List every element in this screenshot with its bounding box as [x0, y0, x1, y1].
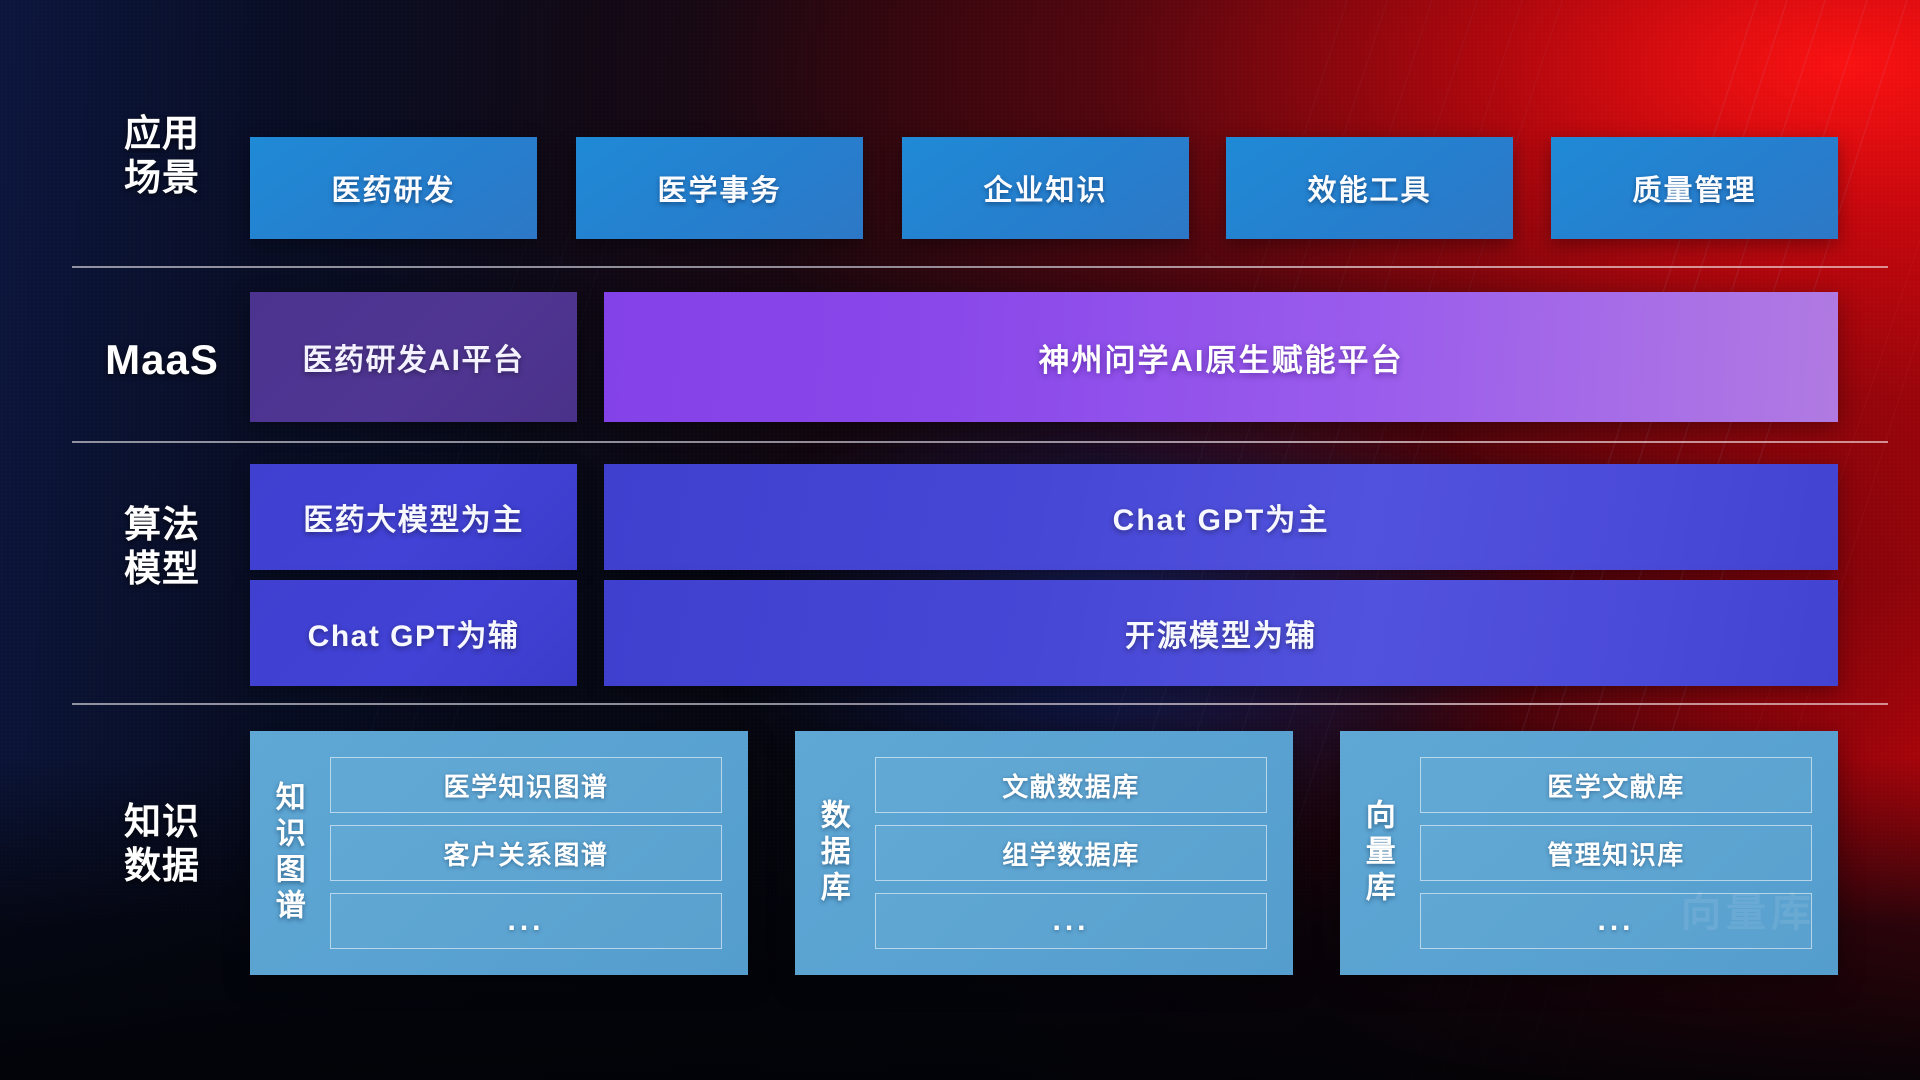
- row-label-knowledge-line1: 知识: [78, 800, 246, 844]
- row-label-algorithm: 算法 模型: [78, 503, 246, 590]
- algo-block-chatgpt-secondary[interactable]: Chat GPT为辅: [250, 580, 577, 686]
- app-tile-medicine-rd[interactable]: 医药研发: [250, 137, 537, 239]
- knowledge-item-customer-relation-graph[interactable]: 客户关系图谱: [330, 825, 722, 881]
- row-label-application-line1: 应用: [78, 112, 246, 156]
- divider-algorithm-knowledge: [72, 703, 1888, 705]
- algo-block-chatgpt-primary[interactable]: Chat GPT为主: [604, 464, 1838, 570]
- maas-block-medicine-ai-platform[interactable]: 医药研发AI平台: [250, 292, 577, 422]
- row-label-maas-text: MaaS: [78, 335, 246, 385]
- row-label-maas: MaaS: [78, 335, 246, 385]
- knowledge-card-items-vector-store: 医学文献库 管理知识库 ...: [1414, 731, 1838, 975]
- knowledge-card-vector-store[interactable]: 向量库 医学文献库 管理知识库 ...: [1340, 731, 1838, 975]
- knowledge-item-more-vector-store[interactable]: ...: [1420, 893, 1812, 949]
- knowledge-item-literature-database[interactable]: 文献数据库: [875, 757, 1267, 813]
- row-label-knowledge-line2: 数据: [78, 844, 246, 888]
- divider-application-maas: [72, 266, 1888, 268]
- knowledge-card-title-knowledge-graph: 知识图谱: [250, 731, 324, 975]
- knowledge-item-more-knowledge-graph[interactable]: ...: [330, 893, 722, 949]
- row-label-application: 应用 场景: [78, 112, 246, 199]
- row-label-algorithm-line2: 模型: [78, 547, 246, 591]
- row-label-knowledge: 知识 数据: [78, 800, 246, 887]
- algo-block-opensource-model-secondary[interactable]: 开源模型为辅: [604, 580, 1838, 686]
- row-label-application-line2: 场景: [78, 156, 246, 200]
- knowledge-card-knowledge-graph[interactable]: 知识图谱 医学知识图谱 客户关系图谱 ...: [250, 731, 748, 975]
- knowledge-card-items-database: 文献数据库 组学数据库 ...: [869, 731, 1293, 975]
- knowledge-item-more-database[interactable]: ...: [875, 893, 1267, 949]
- knowledge-item-medical-knowledge-graph[interactable]: 医学知识图谱: [330, 757, 722, 813]
- maas-block-shenzhou-wenxue-platform[interactable]: 神州问学AI原生赋能平台: [604, 292, 1838, 422]
- slide-canvas: 应用 场景 医药研发 医学事务 企业知识 效能工具 质量管理 MaaS 医药研发…: [0, 0, 1920, 1080]
- algo-block-medicine-large-model-primary[interactable]: 医药大模型为主: [250, 464, 577, 570]
- row-label-algorithm-line1: 算法: [78, 503, 246, 547]
- knowledge-card-items-knowledge-graph: 医学知识图谱 客户关系图谱 ...: [324, 731, 748, 975]
- knowledge-card-title-database: 数据库: [795, 731, 869, 975]
- divider-maas-algorithm: [72, 441, 1888, 443]
- app-tile-enterprise-knowledge[interactable]: 企业知识: [902, 137, 1189, 239]
- knowledge-item-omics-database[interactable]: 组学数据库: [875, 825, 1267, 881]
- knowledge-card-database[interactable]: 数据库 文献数据库 组学数据库 ...: [795, 731, 1293, 975]
- app-tile-efficiency-tools[interactable]: 效能工具: [1226, 137, 1513, 239]
- app-tile-medical-affairs[interactable]: 医学事务: [576, 137, 863, 239]
- knowledge-item-management-knowledge-store[interactable]: 管理知识库: [1420, 825, 1812, 881]
- app-tile-quality-management[interactable]: 质量管理: [1551, 137, 1838, 239]
- knowledge-item-medical-literature-store[interactable]: 医学文献库: [1420, 757, 1812, 813]
- knowledge-card-title-vector-store: 向量库: [1340, 731, 1414, 975]
